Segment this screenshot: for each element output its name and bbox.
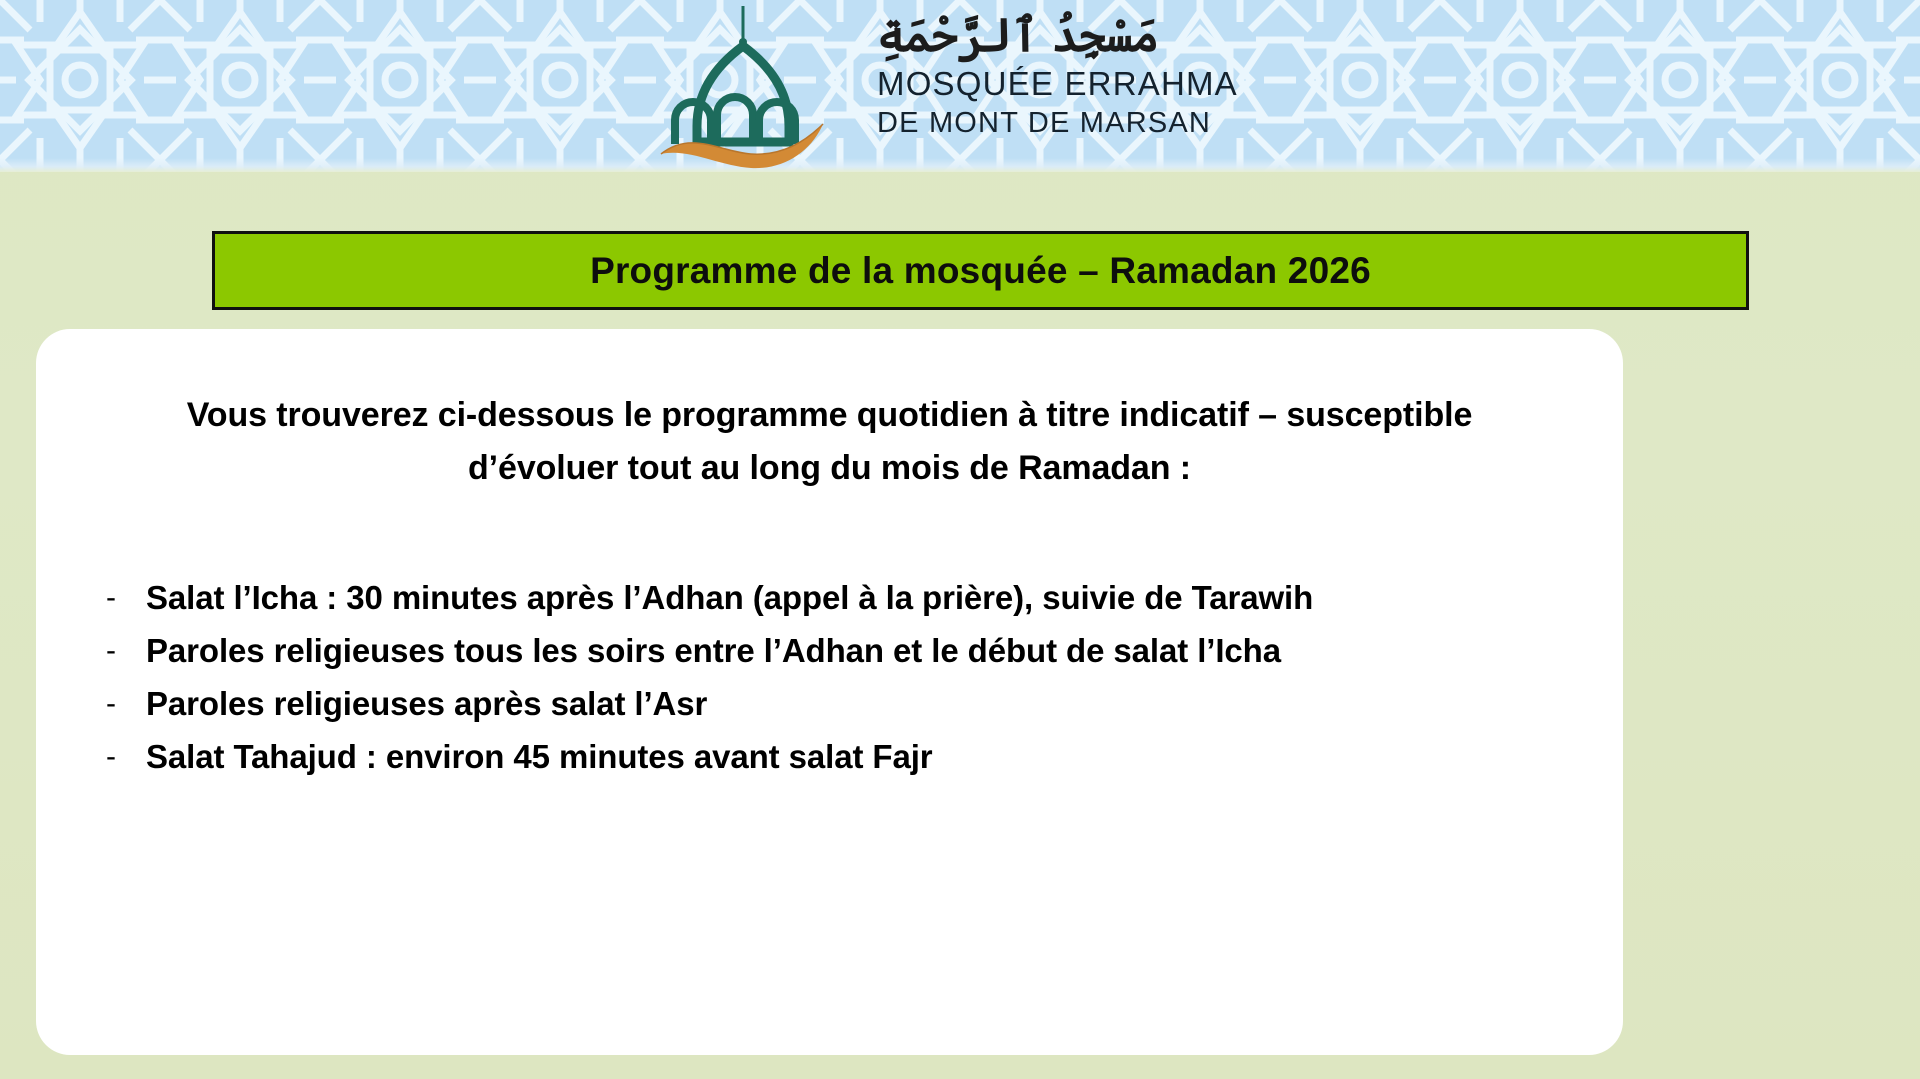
content-card: Vous trouverez ci-dessous le programme q… — [36, 329, 1623, 1055]
page-title: Programme de la mosquée – Ramadan 2026 — [590, 250, 1371, 292]
list-item: - Salat l’Icha : 30 minutes après l’Adha… — [106, 571, 1553, 624]
mosque-name-fr-line2: DE MONT DE MARSAN — [877, 104, 1211, 142]
list-item: - Paroles religieuses tous les soirs ent… — [106, 624, 1553, 677]
header-banner: مَسْجِدُ ٱلرَّحْمَةِ MOSQUÉE ERRAHMA DE … — [0, 0, 1920, 172]
bullet-dash-marker: - — [106, 624, 146, 677]
list-item: - Salat Tahajud : environ 45 minutes ava… — [106, 730, 1553, 783]
mosque-dome-icon — [655, 2, 875, 170]
bullet-dash-marker: - — [106, 730, 146, 783]
mosque-logo-text-block: مَسْجِدُ ٱلرَّحْمَةِ MOSQUÉE ERRAHMA DE … — [877, 6, 1277, 166]
title-banner: Programme de la mosquée – Ramadan 2026 — [212, 231, 1749, 310]
intro-paragraph: Vous trouverez ci-dessous le programme q… — [130, 389, 1530, 495]
list-item-label: Salat Tahajud : environ 45 minutes avant… — [146, 730, 1553, 783]
slide-canvas: مَسْجِدُ ٱلرَّحْمَةِ MOSQUÉE ERRAHMA DE … — [0, 0, 1920, 1079]
mosque-name-arabic: مَسْجِدُ ٱلرَّحْمَةِ — [877, 6, 1159, 64]
mosque-name-fr-line1: MOSQUÉE ERRAHMA — [877, 64, 1238, 104]
program-bullet-list: - Salat l’Icha : 30 minutes après l’Adha… — [106, 571, 1553, 783]
mosque-logo: مَسْجِدُ ٱلرَّحْمَةِ MOSQUÉE ERRAHMA DE … — [655, 2, 1275, 170]
bullet-dash-marker: - — [106, 571, 146, 624]
list-item-label: Salat l’Icha : 30 minutes après l’Adhan … — [146, 571, 1553, 624]
list-item-label: Paroles religieuses après salat l’Asr — [146, 677, 1553, 730]
bullet-dash-marker: - — [106, 677, 146, 730]
list-item-label: Paroles religieuses tous les soirs entre… — [146, 624, 1553, 677]
list-item: - Paroles religieuses après salat l’Asr — [106, 677, 1553, 730]
